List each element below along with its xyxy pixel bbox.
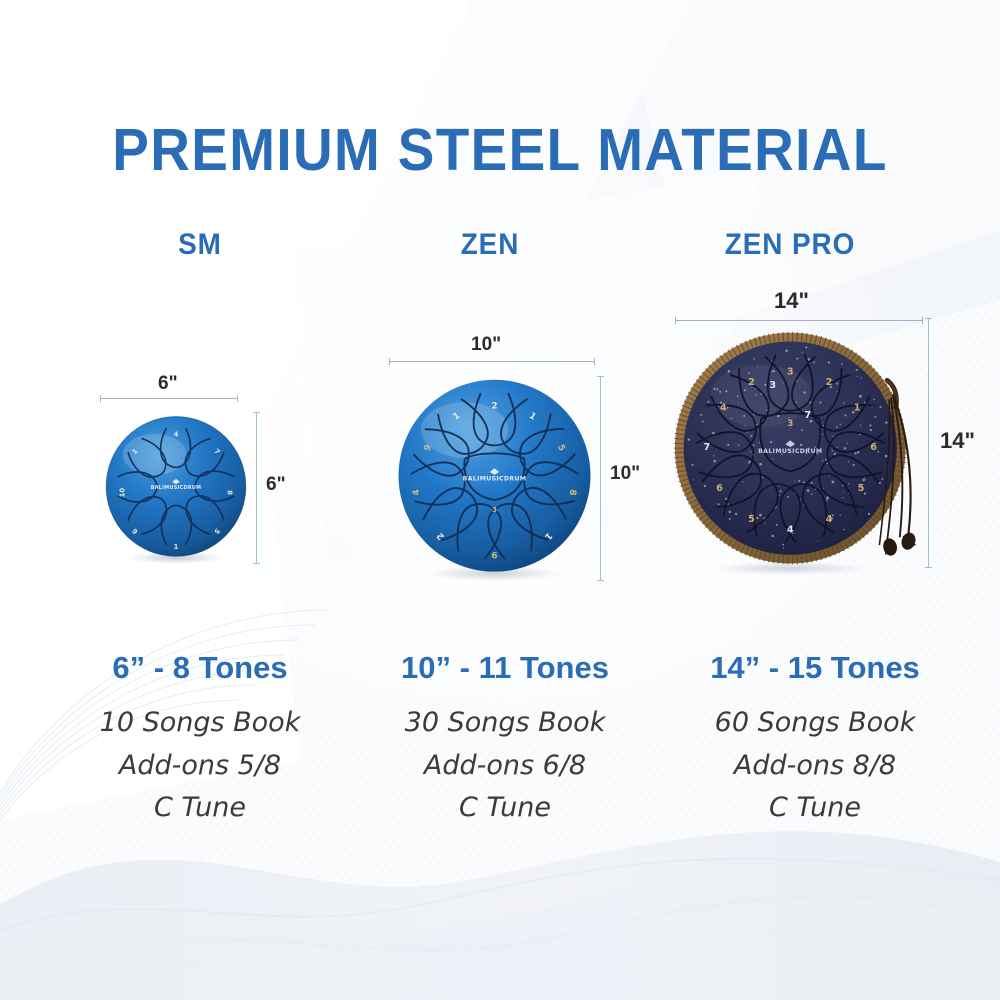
page-title: PREMIUM STEEL MATERIAL <box>35 116 965 184</box>
spec-songs-book-sm: 10 Songs Book <box>40 702 360 745</box>
svg-text:5: 5 <box>748 514 755 525</box>
spec-tune-zen-pro: C Tune <box>655 787 975 830</box>
svg-text:2: 2 <box>491 402 497 412</box>
spec-title-zen: 10” - 11 Tones <box>345 650 665 686</box>
spec-title-zen-pro: 14” - 15 Tones <box>655 650 975 686</box>
dimension-label-height-zen: 10" <box>610 463 640 485</box>
svg-text:4: 4 <box>787 524 794 535</box>
dimension-label-height-zen-pro: 14" <box>940 428 975 454</box>
dimension-label-width-zen: 10" <box>471 334 501 356</box>
column-header-zen: ZEN <box>378 228 601 262</box>
svg-text:4: 4 <box>720 402 727 413</box>
dimension-line-height-zen <box>600 376 601 581</box>
spec-block-zen: 10” - 11 Tones 30 Songs Book Add-ons 6/8… <box>345 650 665 830</box>
svg-text:3: 3 <box>769 380 776 391</box>
spec-block-sm: 6” - 8 Tones 10 Songs Book Add-ons 5/8 C… <box>40 650 360 830</box>
dimension-line-height-sm <box>256 412 257 564</box>
dimension-label-width-sm: 6" <box>158 373 178 395</box>
svg-text:2: 2 <box>826 377 833 388</box>
svg-text:3: 3 <box>787 419 793 429</box>
svg-text:7: 7 <box>704 442 711 453</box>
svg-text:8: 8 <box>226 490 234 495</box>
dimension-label-height-sm: 6" <box>266 474 286 496</box>
drum-image-zen: 2 1 1 9 5 4 8 2 1 6 3 BALIMUSICDRUM <box>392 376 597 581</box>
svg-text:1: 1 <box>174 543 179 551</box>
spec-songs-book-zen: 30 Songs Book <box>345 702 665 745</box>
spec-add-ons-zen: Add-ons 6/8 <box>345 745 665 788</box>
svg-text:BALIMUSICDRUM: BALIMUSICDRUM <box>758 448 822 455</box>
svg-text:BALIMUSICDRUM: BALIMUSICDRUM <box>463 475 527 482</box>
spec-tune-sm: C Tune <box>40 787 360 830</box>
svg-text:1: 1 <box>854 402 861 413</box>
dimension-line-width-zen-pro <box>675 320 923 321</box>
spec-add-ons-sm: Add-ons 5/8 <box>40 745 360 788</box>
drum-image-zen-pro: 3 2 2 4 1 7 6 6 5 5 4 4 3 7 3 BALIMUSICD… <box>672 326 924 578</box>
dimension-label-width-zen-pro: 14" <box>774 288 809 314</box>
svg-text:4: 4 <box>174 430 179 438</box>
svg-text:7: 7 <box>804 410 811 421</box>
svg-text:6: 6 <box>716 483 723 494</box>
svg-text:3: 3 <box>492 505 497 514</box>
dimension-line-height-zen-pro <box>928 318 929 568</box>
column-header-zen-pro: ZEN PRO <box>678 228 901 262</box>
spec-add-ons-zen-pro: Add-ons 8/8 <box>655 745 975 788</box>
svg-text:5: 5 <box>858 483 865 494</box>
spec-block-zen-pro: 14” - 15 Tones 60 Songs Book Add-ons 8/8… <box>655 650 975 830</box>
spec-songs-book-zen-pro: 60 Songs Book <box>655 702 975 745</box>
spec-tune-zen: C Tune <box>345 787 665 830</box>
svg-text:4: 4 <box>826 514 833 525</box>
spec-title-sm: 6” - 8 Tones <box>40 650 360 686</box>
svg-text:10: 10 <box>118 488 126 498</box>
column-header-sm: SM <box>88 228 311 262</box>
drum-image-sm: 4 1 7 10 8 6 5 1 BALIMUSICDRUM <box>100 412 252 564</box>
svg-text:6: 6 <box>491 552 497 562</box>
svg-text:2: 2 <box>748 377 755 388</box>
dimension-line-width-zen <box>389 361 595 362</box>
svg-text:3: 3 <box>787 366 794 377</box>
svg-text:6: 6 <box>870 442 877 453</box>
dimension-line-width-sm <box>100 398 238 399</box>
svg-text:BALIMUSICDRUM: BALIMUSICDRUM <box>151 485 202 491</box>
